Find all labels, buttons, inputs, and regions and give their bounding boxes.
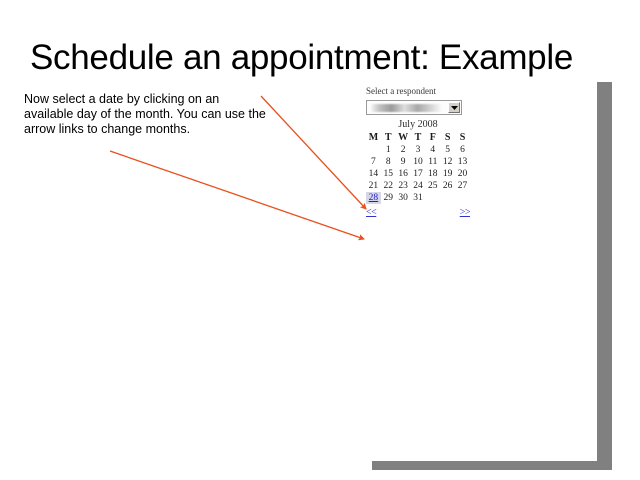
- calendar-day[interactable]: 30: [396, 192, 411, 204]
- calendar-day[interactable]: 23: [396, 180, 411, 192]
- calendar-day[interactable]: 11: [425, 156, 440, 168]
- calendar-day[interactable]: 25: [425, 180, 440, 192]
- calendar-day[interactable]: 4: [425, 144, 440, 156]
- instruction-text: Now select a date by clicking on an avai…: [24, 92, 269, 137]
- calendar-day-empty: [440, 192, 455, 204]
- slide-canvas: Schedule an appointment: Example Now sel…: [0, 0, 640, 480]
- calendar-week-row: 14 15 16 17 18 19 20: [366, 168, 470, 180]
- weekday-header: T: [381, 132, 396, 144]
- calendar-day[interactable]: 6: [455, 144, 470, 156]
- calendar-day[interactable]: 27: [455, 180, 470, 192]
- page-title: Schedule an appointment: Example: [30, 36, 610, 82]
- calendar-day[interactable]: 15: [381, 168, 396, 180]
- weekday-header: M: [366, 132, 381, 144]
- weekday-header: T: [411, 132, 426, 144]
- calendar-day[interactable]: 7: [366, 156, 381, 168]
- calendar-week-row: 1 2 3 4 5 6: [366, 144, 470, 156]
- calendar-day[interactable]: 24: [411, 180, 426, 192]
- chevron-down-icon[interactable]: [448, 102, 460, 113]
- calendar-day[interactable]: 13: [455, 156, 470, 168]
- calendar-day[interactable]: 1: [381, 144, 396, 156]
- calendar-day[interactable]: 26: [440, 180, 455, 192]
- calendar-day[interactable]: 17: [411, 168, 426, 180]
- calendar-day-selected-link[interactable]: 28: [369, 193, 379, 203]
- calendar-day-empty: [455, 192, 470, 204]
- respondent-label: Select a respondent: [366, 86, 478, 97]
- calendar-day-empty: [425, 192, 440, 204]
- calendar-day-selected[interactable]: 28: [366, 192, 381, 204]
- calendar-day[interactable]: 2: [396, 144, 411, 156]
- calendar-day[interactable]: 9: [396, 156, 411, 168]
- slide-shadow-bottom: [372, 461, 612, 470]
- calendar-day[interactable]: 22: [381, 180, 396, 192]
- calendar-day[interactable]: 29: [381, 192, 396, 204]
- calendar-day[interactable]: 21: [366, 180, 381, 192]
- calendar-week-row: 21 22 23 24 25 26 27: [366, 180, 470, 192]
- next-month-link[interactable]: >>: [460, 207, 470, 218]
- weekday-header: F: [425, 132, 440, 144]
- weekday-header: S: [440, 132, 455, 144]
- calendar-weekday-row: M T W T F S S: [366, 132, 470, 144]
- calendar-day[interactable]: 16: [396, 168, 411, 180]
- calendar-week-row: 28 29 30 31: [366, 192, 470, 204]
- calendar-day[interactable]: 31: [411, 192, 426, 204]
- calendar-widget: Select a respondent July 2008 M T W T F …: [366, 86, 478, 218]
- prev-month-link[interactable]: <<: [366, 207, 376, 218]
- weekday-header: W: [396, 132, 411, 144]
- calendar-day[interactable]: 8: [381, 156, 396, 168]
- calendar-week-row: 7 8 9 10 11 12 13: [366, 156, 470, 168]
- calendar-day[interactable]: 10: [411, 156, 426, 168]
- annotation-arrow-to-day: [261, 96, 366, 209]
- annotation-arrow-to-nav: [110, 151, 364, 239]
- calendar-day[interactable]: 5: [440, 144, 455, 156]
- calendar-day[interactable]: 18: [425, 168, 440, 180]
- respondent-select[interactable]: [366, 100, 462, 115]
- calendar-day-empty: [366, 144, 381, 156]
- calendar-day[interactable]: 3: [411, 144, 426, 156]
- respondent-select-value: [370, 104, 442, 112]
- slide-shadow-right: [597, 82, 612, 470]
- calendar-day[interactable]: 20: [455, 168, 470, 180]
- calendar-navigation: << >>: [366, 204, 470, 218]
- weekday-header: S: [455, 132, 470, 144]
- calendar-month-title: July 2008: [366, 119, 470, 132]
- calendar-day[interactable]: 12: [440, 156, 455, 168]
- calendar-grid: M T W T F S S 1 2 3 4 5 6: [366, 132, 470, 204]
- calendar-day[interactable]: 14: [366, 168, 381, 180]
- calendar-day[interactable]: 19: [440, 168, 455, 180]
